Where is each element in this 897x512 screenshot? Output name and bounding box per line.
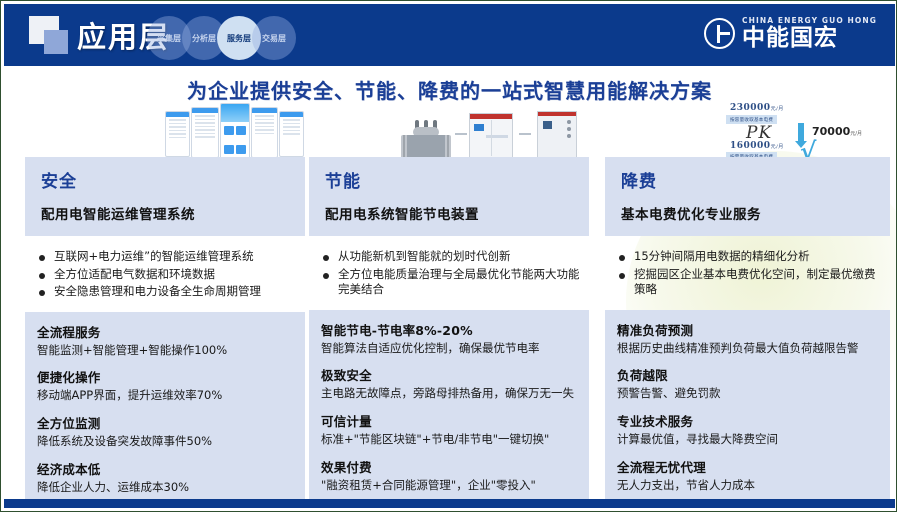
feature-item: 精准负荷预测根据历史曲线精准预判负荷最大值负荷越限告警 [617,320,878,356]
column-category: 降费 [621,167,874,192]
pk-value-after-unit: 元/月 [771,144,784,150]
column-cost-reduction-header: 降费 基本电费优化专业服务 [605,157,890,236]
feature-desc: 标准+"节能区块链"+节电/非节电"一键切换" [321,432,577,447]
feature-item: 全方位监测降低系统及设备突发故障事件50% [37,413,293,449]
list-item: 挖掘园区企业基本电费优化空间，制定最优缴费策略 [613,267,884,298]
feature-title: 便捷化操作 [37,367,293,386]
column-security: 安全 配用电智能运维管理系统 互联网+电力运维”的智能运维管理系统 全方位适配电… [25,105,305,507]
feature-desc: 主电路无故障点，旁路母排热备用，确保万无一失 [321,386,577,401]
feature-title: 精准负荷预测 [617,320,878,339]
feature-desc: 计算最优值，寻找最大降费空间 [617,432,878,447]
connector-dash [519,133,531,135]
bullet-text: 15分钟间隔用电数据的精细化分析 [634,249,810,265]
column-energy-saving-header: 节能 配用电系统智能节电装置 [309,157,589,236]
bullet-text: 全方位适配电气数据和环境数据 [54,267,215,283]
list-item: 全方位电能质量治理与全局最优化节能两大功能完美结合 [317,267,583,298]
pk-value-before: 230000元/月 [730,103,784,113]
column-energy-saving-bullets: 从功能新机到智能就的划时代创新 全方位电能质量治理与全局最优化节能两大功能完美结… [309,236,589,310]
mobile-app-screens-icon [165,103,305,159]
phone-screen [165,111,190,157]
layer-circle-label: 交易层 [262,33,286,44]
layer-circle-label: 采集层 [157,33,181,44]
pk-value-after: 160000元/月 [730,141,784,151]
list-item: 15分钟间隔用电数据的精细化分析 [613,249,884,265]
pk-label: PK [746,123,772,143]
pk-value-after-number: 160000 [730,141,771,151]
column-cost-reduction-artwork: 230000元/月 按容量收取基本电费 PK 160000元/月 按需量收取基本… [605,105,890,157]
company-name-cn: 中能国宏 [742,27,877,50]
feature-desc: 智能算法自适应优化控制，确保最优节电率 [321,341,577,356]
column-security-artwork [25,105,305,157]
bullet-dot-icon [323,273,329,279]
feature-item: 全流程无忧代理无人力支出，节省人力成本 [617,457,878,493]
feature-item: 智能节电-节电率8%-20%智能算法自适应优化控制，确保最优节电率 [321,320,577,356]
slide-header: 应用层 采集层 分析层 服务层 交易层 CHINA ENERGY GUO HON… [4,4,895,66]
column-security-body: 全流程服务智能监测+智能管理+智能操作100% 便捷化操作移动端APP界面，提升… [25,312,305,508]
feature-title: 全流程无忧代理 [617,457,878,476]
column-subtitle: 基本电费优化专业服务 [621,203,874,223]
bullet-dot-icon [323,255,329,261]
feature-desc: 根据历史曲线精准预判负荷最大值负荷越限告警 [617,341,878,356]
feature-item: 全流程服务智能监测+智能管理+智能操作100% [37,322,293,358]
feature-desc: 预警告警、避免罚款 [617,386,878,401]
company-mark-icon [704,18,735,49]
column-energy-saving-body: 智能节电-节电率8%-20%智能算法自适应优化控制，确保最优节电率 极致安全主电… [309,310,589,506]
column-subtitle: 配用电系统智能节电装置 [325,203,573,223]
bullet-dot-icon [619,255,625,261]
bullet-text: 从功能新机到智能就的划时代创新 [338,249,511,265]
page-title: 为企业提供安全、节能、降费的一站式智慧用能解决方案 [1,75,897,104]
pk-saving-number: 70000 [812,125,850,138]
feature-item: 效果付费"融资租赁+合同能源管理"，企业"零投入" [321,457,577,493]
feature-title: 可信计量 [321,411,577,430]
column-security-bullets: 互联网+电力运维”的智能运维管理系统 全方位适配电气数据和环境数据 安全隐患管理… [25,236,305,312]
list-item: 互联网+电力运维”的智能运维管理系统 [33,249,299,265]
bullet-text: 挖掘园区企业基本电费优化空间，制定最优缴费策略 [634,267,884,298]
feature-desc: 降低企业人力、运维成本30% [37,480,293,495]
feature-desc: 移动端APP界面，提升运维效率70% [37,388,293,403]
feature-title: 负荷越限 [617,365,878,384]
transformer-icon [401,119,451,159]
column-cost-reduction: 230000元/月 按容量收取基本电费 PK 160000元/月 按需量收取基本… [605,105,890,505]
power-equipment-icon [397,109,582,159]
company-logo: CHINA ENERGY GUO HONG 中能国宏 [704,16,877,50]
feature-desc: "融资租赁+合同能源管理"，企业"零投入" [321,478,577,493]
pk-value-before-number: 230000 [730,103,771,113]
feature-item: 便捷化操作移动端APP界面，提升运维效率70% [37,367,293,403]
bullet-dot-icon [39,255,45,261]
list-item: 全方位适配电气数据和环境数据 [33,267,299,283]
phone-screen [251,107,278,158]
pk-saving-unit: 元/月 [850,131,862,137]
bullet-dot-icon [39,290,45,296]
phone-screen [220,103,250,159]
control-cabinet-icon [469,113,513,159]
list-item: 从功能新机到智能就的划时代创新 [317,249,583,265]
list-item: 安全隐患管理和电力设备全生命周期管理 [33,284,299,300]
feature-item: 负荷越限预警告警、避免罚款 [617,365,878,401]
column-subtitle: 配用电智能运维管理系统 [41,203,289,223]
pk-value-before-unit: 元/月 [771,106,784,112]
connector-dash [455,133,467,135]
pk-comparison-icon: 230000元/月 按容量收取基本电费 PK 160000元/月 按需量收取基本… [720,103,885,161]
feature-title: 效果付费 [321,457,577,476]
feature-title: 全方位监测 [37,413,293,432]
column-category: 节能 [325,167,573,192]
column-category: 安全 [41,167,289,192]
feature-item: 经济成本低降低企业人力、运维成本30% [37,459,293,495]
header-logo-square-blue [44,30,68,54]
bullet-dot-icon [39,273,45,279]
phone-screen [191,107,219,158]
column-security-header: 安全 配用电智能运维管理系统 [25,157,305,236]
feature-desc: 无人力支出，节省人力成本 [617,478,878,493]
slide-footer-bar [4,499,895,508]
feature-title: 智能节电-节电率8%-20% [321,320,577,339]
bullet-text: 互联网+电力运维”的智能运维管理系统 [54,249,254,265]
feature-desc: 智能监测+智能管理+智能操作100% [37,343,293,358]
bullet-text: 安全隐患管理和电力设备全生命周期管理 [54,284,261,300]
feature-desc: 降低系统及设备突发故障事件50% [37,434,293,449]
feature-title: 经济成本低 [37,459,293,478]
columns-container: 安全 配用电智能运维管理系统 互联网+电力运维”的智能运维管理系统 全方位适配电… [1,105,897,505]
column-cost-reduction-body: 精准负荷预测根据历史曲线精准预判负荷最大值负荷越限告警 负荷越限预警告警、避免罚… [605,310,890,506]
layer-circle-label: 分析层 [192,33,216,44]
bullet-text: 全方位电能质量治理与全局最优化节能两大功能完美结合 [338,267,583,298]
bullet-dot-icon [619,273,625,279]
feature-title: 极致安全 [321,365,577,384]
feature-title: 专业技术服务 [617,411,878,430]
feature-item: 可信计量标准+"节能区块链"+节电/非节电"一键切换" [321,411,577,447]
layer-circle-trade[interactable]: 交易层 [252,16,296,60]
column-cost-reduction-bullets: 15分钟间隔用电数据的精细化分析 挖掘园区企业基本电费优化空间，制定最优缴费策略 [605,236,890,310]
slide-root: 应用层 采集层 分析层 服务层 交易层 CHINA ENERGY GUO HON… [0,0,897,512]
company-name-en: CHINA ENERGY GUO HONG [742,16,877,25]
column-energy-saving: 节能 配用电系统智能节电装置 从功能新机到智能就的划时代创新 全方位电能质量治理… [309,105,589,505]
feature-title: 全流程服务 [37,322,293,341]
switchgear-cabinet-icon [537,111,577,159]
feature-item: 专业技术服务计算最优值，寻找最大降费空间 [617,411,878,447]
pk-saving: 70000元/月 [812,125,862,138]
phone-screen [279,111,304,157]
feature-item: 极致安全主电路无故障点，旁路母排热备用，确保万无一失 [321,365,577,401]
layer-circle-label: 服务层 [227,33,251,44]
column-energy-saving-artwork [309,105,589,157]
